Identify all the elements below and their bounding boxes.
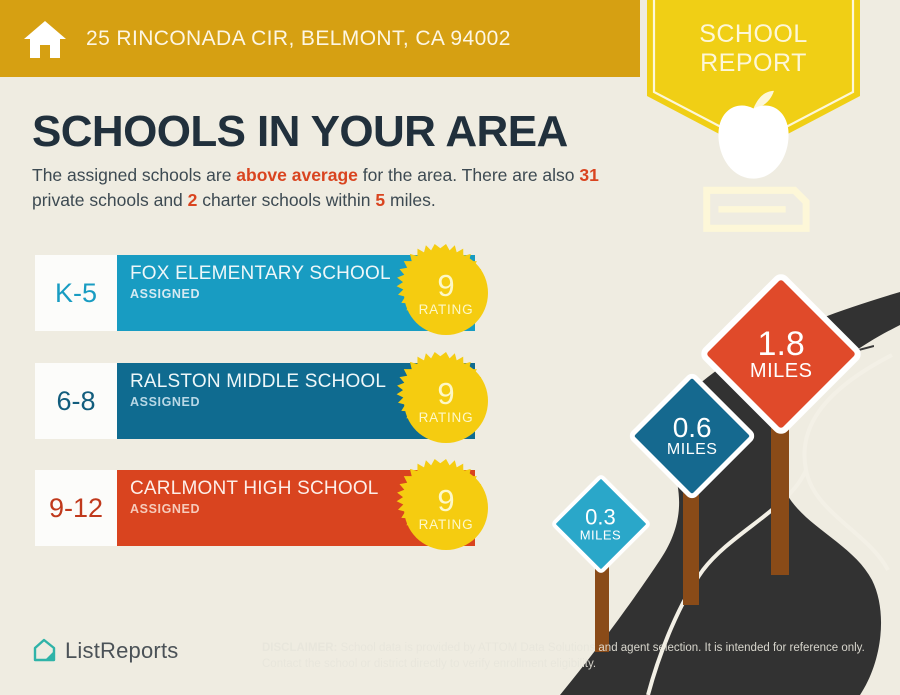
starburst-icon <box>396 243 496 343</box>
school-report-infographic: 25 RINCONADA CIR, BELMONT, CA 94002 SCHO… <box>0 0 900 695</box>
header-bar: 25 RINCONADA CIR, BELMONT, CA 94002 <box>0 0 640 77</box>
starburst-icon <box>396 458 496 558</box>
school-report-ribbon: SCHOOL REPORT <box>647 0 860 152</box>
grade-range-box: 9-12 <box>35 470 117 546</box>
ribbon-emblem <box>647 88 860 240</box>
brand-logo[interactable]: ListReports <box>32 638 178 664</box>
distance-value: 0.3 <box>580 506 622 528</box>
disclaimer-body: School data is provided by ATTOM Data So… <box>262 642 865 670</box>
grade-range-box: K-5 <box>35 255 117 331</box>
subtitle-part-1: The assigned schools are <box>32 165 236 185</box>
rating-badge: 9 RATING <box>396 351 496 451</box>
rating-badge: 9 RATING <box>396 458 496 558</box>
starburst-icon <box>396 351 496 451</box>
listreports-house-icon <box>32 638 56 664</box>
subtitle-part-5: miles. <box>385 190 436 210</box>
home-icon <box>22 18 68 60</box>
page-subtitle: The assigned schools are above average f… <box>32 163 632 213</box>
page-title: SCHOOLS IN YOUR AREA <box>32 107 568 157</box>
sign-text: 1.8 MILES <box>750 327 813 381</box>
subtitle-part-4: charter schools within <box>197 190 375 210</box>
subtitle-highlight-private-count: 31 <box>579 165 598 185</box>
subtitle-part-2: for the area. There are also <box>358 165 579 185</box>
apple-book-icon <box>647 88 860 240</box>
distance-value: 1.8 <box>750 327 813 361</box>
rating-badge: 9 RATING <box>396 243 496 343</box>
sign-post <box>771 415 789 575</box>
subtitle-highlight-radius: 5 <box>375 190 385 210</box>
subtitle-part-3: private schools and <box>32 190 188 210</box>
distance-unit: MILES <box>580 528 622 541</box>
disclaimer-label: DISCLAIMER: <box>262 642 337 654</box>
sign-text: 0.3 MILES <box>580 506 622 541</box>
subtitle-highlight-charter-count: 2 <box>188 190 198 210</box>
apple-icon <box>718 106 788 179</box>
sign-face: 1.8 MILES <box>698 271 865 438</box>
distance-unit: MILES <box>750 361 813 381</box>
grade-range-box: 6-8 <box>35 363 117 439</box>
disclaimer-text: DISCLAIMER: School data is provided by A… <box>262 640 900 672</box>
subtitle-highlight-rating: above average <box>236 165 358 185</box>
property-address: 25 RINCONADA CIR, BELMONT, CA 94002 <box>86 27 511 51</box>
brand-name: ListReports <box>65 638 178 664</box>
distance-sign: 1.8 MILES <box>705 290 860 580</box>
